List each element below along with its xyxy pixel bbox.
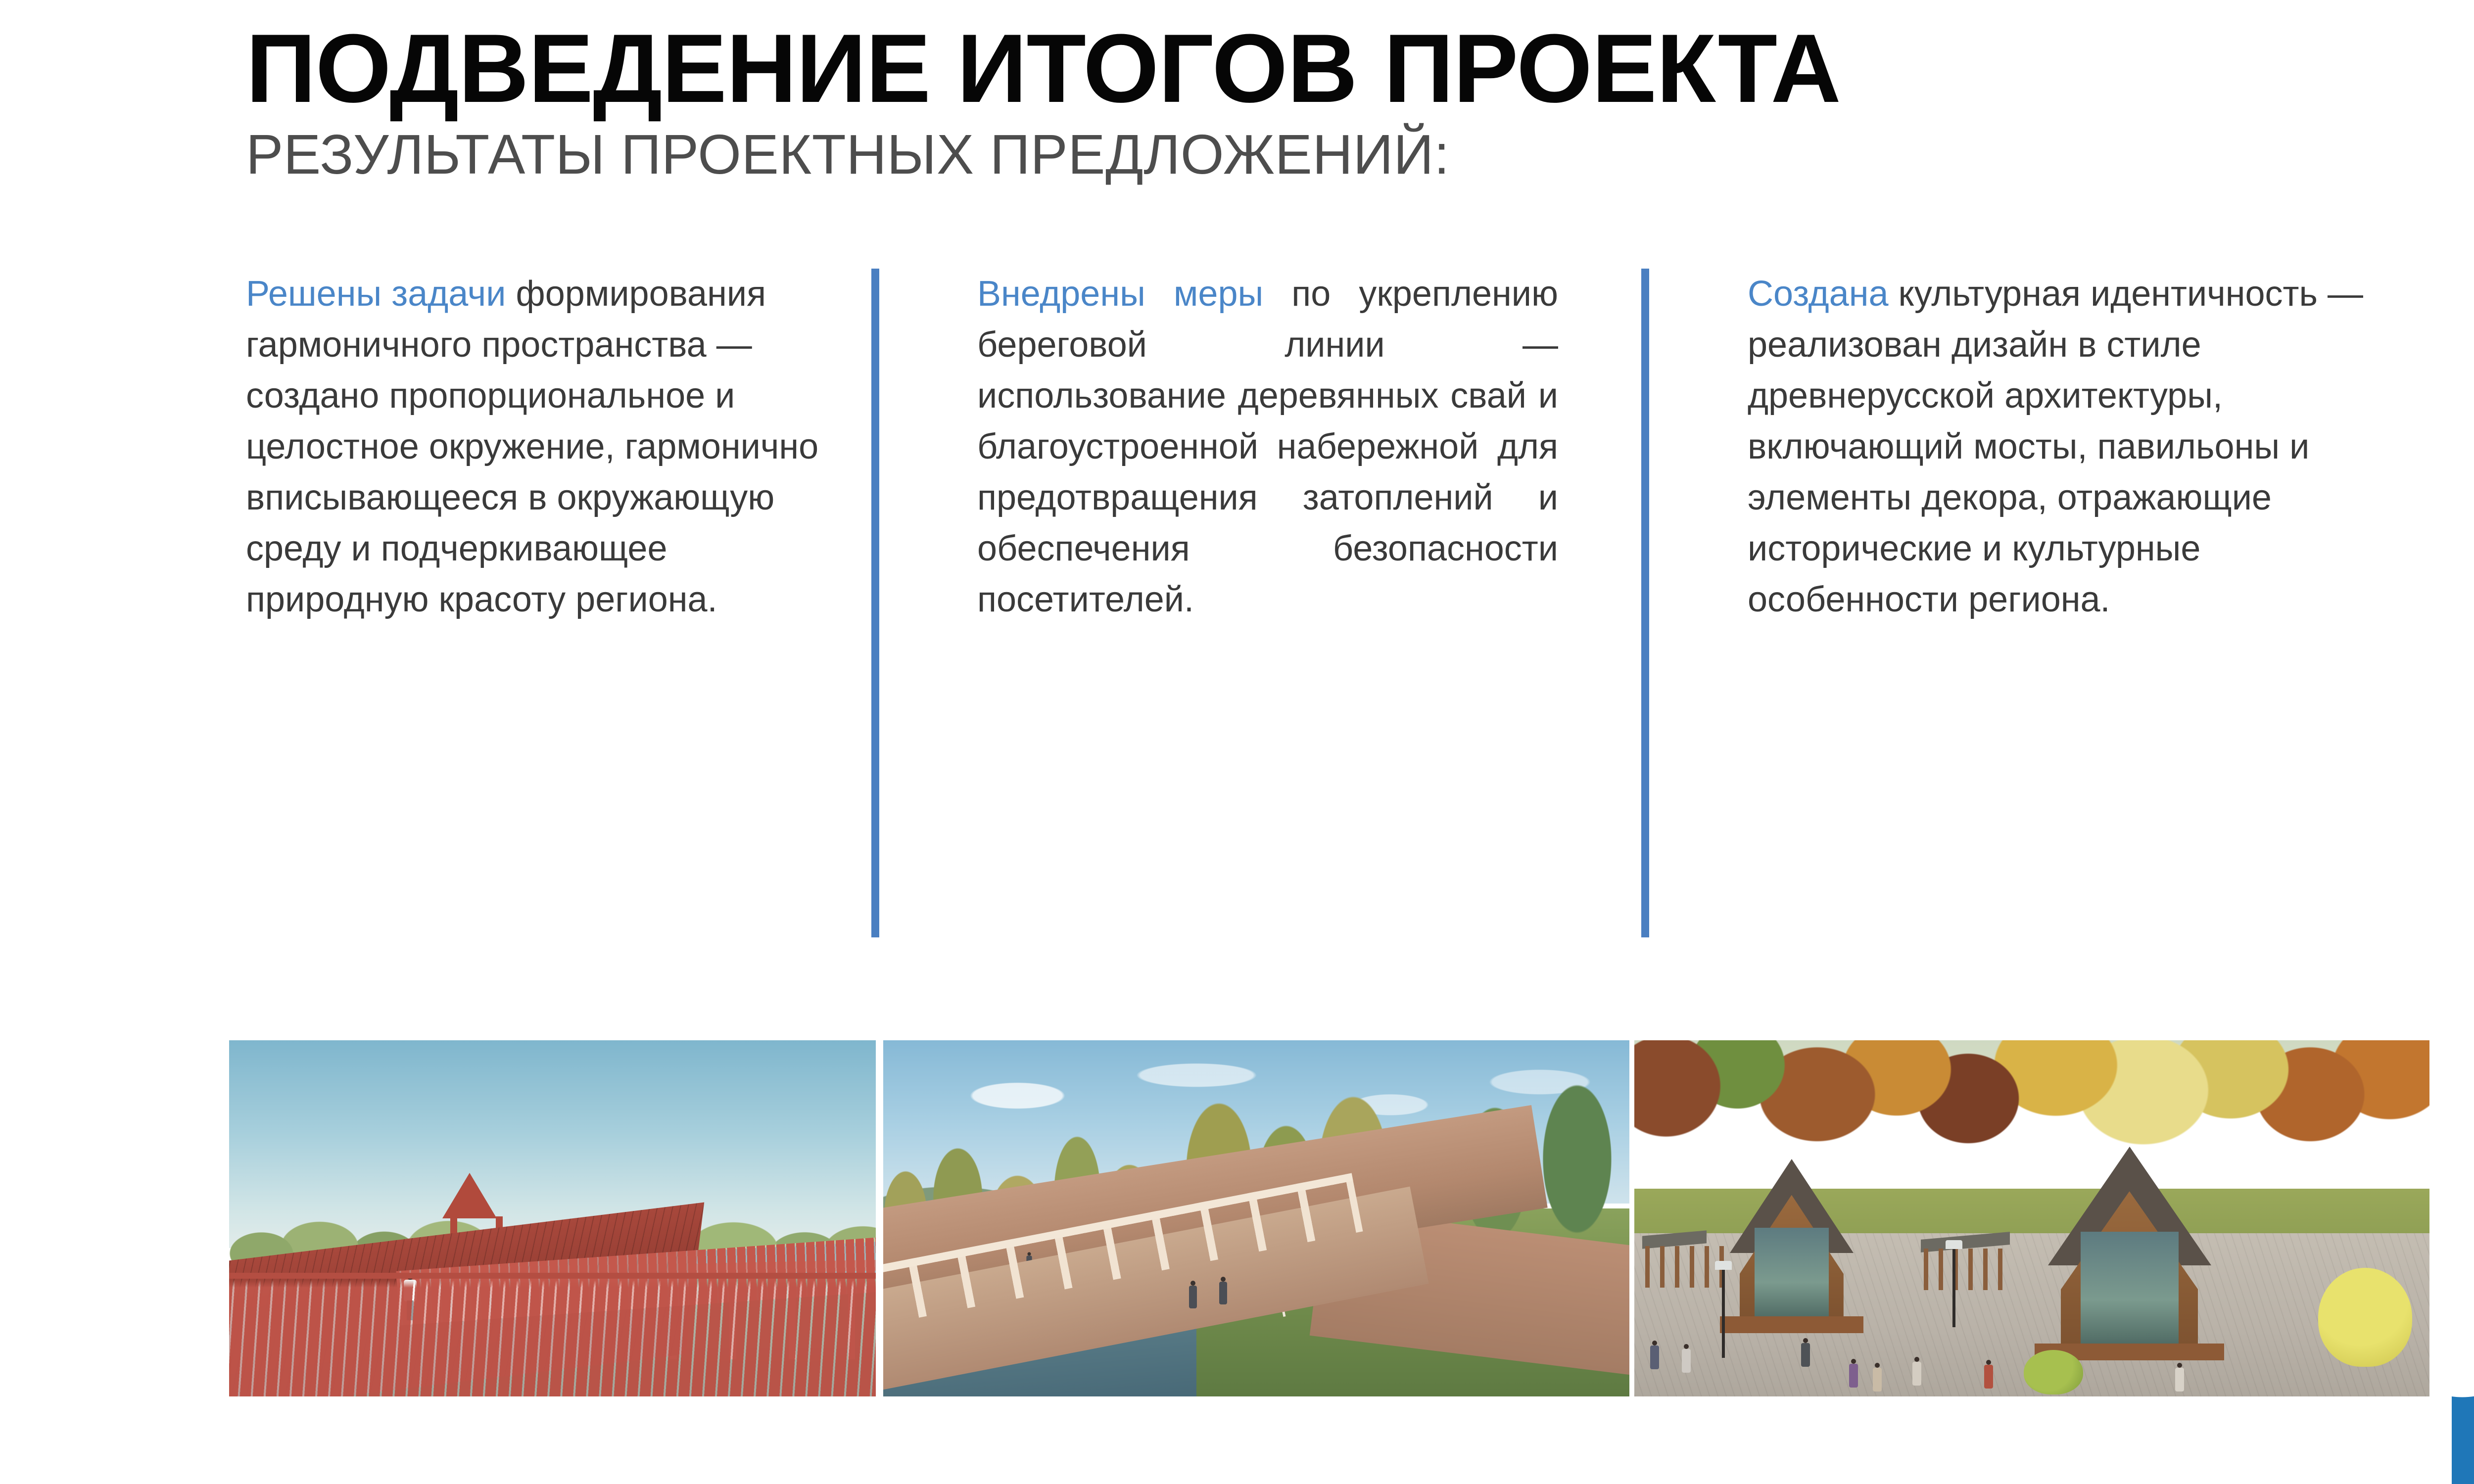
slide-root: ПОДВЕДЕНИЕ ИТОГОВ ПРОЕКТА РЕЗУЛЬТАТЫ ПРО…	[0, 0, 2474, 1484]
visitor	[1650, 1341, 1659, 1369]
pavilion-base	[1720, 1316, 1863, 1333]
badge-wave-shape	[2452, 1373, 2474, 1484]
street-lamp	[1952, 1248, 1955, 1327]
visitor	[1801, 1338, 1810, 1367]
photo-3: Визуализация: осенний парк с деревянными…	[1634, 1040, 2429, 1396]
column-3-body: культурная идентичность — реализован диз…	[1748, 274, 2363, 619]
column-divider-1	[871, 269, 879, 937]
column-2-body: по укреплению береговой линии — использо…	[977, 274, 1558, 619]
page-title: ПОДВЕДЕНИЕ ИТОГОВ ПРОЕКТА	[246, 20, 1841, 117]
visitor	[1912, 1357, 1921, 1386]
shrub	[2318, 1268, 2412, 1367]
railing-front	[229, 1273, 876, 1396]
column-1-paragraph: Решены задачи формирования гармоничного …	[246, 269, 819, 625]
column-3-paragraph: Создана культурная идентичность — реализ…	[1748, 269, 2376, 625]
column-3-lead: Создана	[1748, 274, 1889, 314]
visitor	[1849, 1359, 1858, 1388]
visitor	[2175, 1363, 2184, 1391]
column-1-body: формирования гармоничного пространства —…	[246, 274, 818, 619]
column-3: Создана культурная идентичность — реализ…	[1748, 269, 2376, 625]
shade-canopy	[1642, 1233, 1707, 1280]
column-2-lead: Внедрены меры	[977, 274, 1263, 314]
column-2-paragraph: Внедрены меры по укреплению береговой ли…	[977, 269, 1558, 625]
visitor	[1682, 1344, 1691, 1373]
photo-1-scene	[229, 1040, 876, 1396]
visitor	[1873, 1363, 1882, 1391]
canopy-posts	[1924, 1249, 2007, 1290]
column-1-lead: Решены задачи	[246, 274, 506, 314]
pavilion-large	[2048, 1147, 2211, 1349]
pavilion-glazing	[2081, 1232, 2179, 1345]
column-2: Внедрены меры по укреплению береговой ли…	[977, 269, 1558, 625]
column-1: Решены задачи формирования гармоничного …	[246, 269, 819, 625]
page-subtitle: РЕЗУЛЬТАТЫ ПРОЕКТНЫХ ПРЕДЛОЖЕНИЙ:	[246, 127, 1450, 183]
photo-2: Визуализация: бежевая благоустроенная на…	[883, 1040, 1629, 1396]
column-divider-2	[1641, 269, 1649, 937]
photo-1: Визуализация: красный деревянный настил-…	[229, 1040, 876, 1396]
photo-2-scene	[883, 1040, 1629, 1396]
photo-3-scene	[1634, 1040, 2429, 1396]
visitor	[1189, 1281, 1197, 1308]
page-number-badge: 16	[2452, 1373, 2474, 1484]
visitor	[1219, 1277, 1227, 1304]
columns-section: Решены задачи формирования гармоничного …	[0, 269, 2474, 941]
pavilion-small	[1730, 1159, 1854, 1322]
pavilion-glazing	[1755, 1228, 1829, 1319]
visitor	[1984, 1360, 1993, 1389]
street-lamp	[1722, 1269, 1725, 1358]
image-strip: Визуализация: красный деревянный настил-…	[229, 1040, 2429, 1396]
shrub	[2024, 1350, 2083, 1394]
shade-canopy	[1921, 1236, 2010, 1290]
